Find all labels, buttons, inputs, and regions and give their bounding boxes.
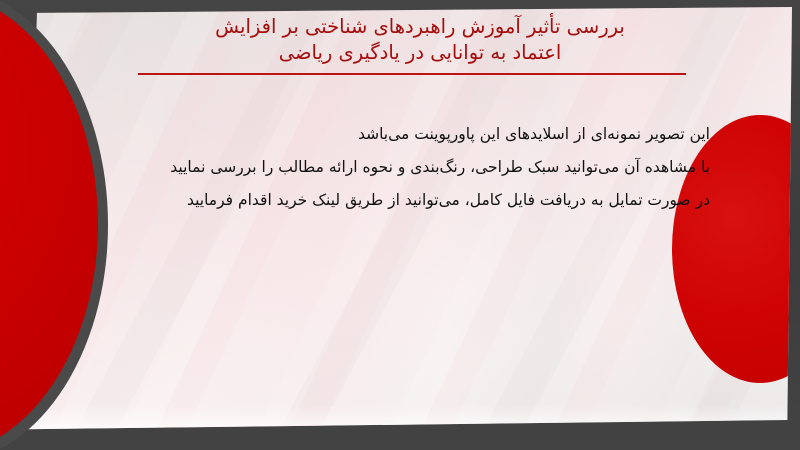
slide-body-text: این تصویر نمونه‌ای از اسلایدهای این پاور… <box>110 118 710 217</box>
presentation-slide: بررسی تأثیر آموزش راهبردهای شناختی بر اف… <box>0 0 800 450</box>
slide-title-line-1: بررسی تأثیر آموزش راهبردهای شناختی بر اف… <box>130 14 710 40</box>
body-line-3: در صورت تمایل به دریافت فایل کامل، می‌تو… <box>110 184 710 217</box>
slide-title: بررسی تأثیر آموزش راهبردهای شناختی بر اف… <box>130 14 710 66</box>
slide-title-line-2: اعتماد به توانایی در یادگیری ریاضی <box>130 40 710 66</box>
title-underline-rule <box>138 73 686 75</box>
body-line-1: این تصویر نمونه‌ای از اسلایدهای این پاور… <box>110 118 710 151</box>
slide-content-panel <box>20 7 792 431</box>
body-line-2: با مشاهده آن می‌توانید سبک طراحی، رنگ‌بن… <box>110 151 710 184</box>
